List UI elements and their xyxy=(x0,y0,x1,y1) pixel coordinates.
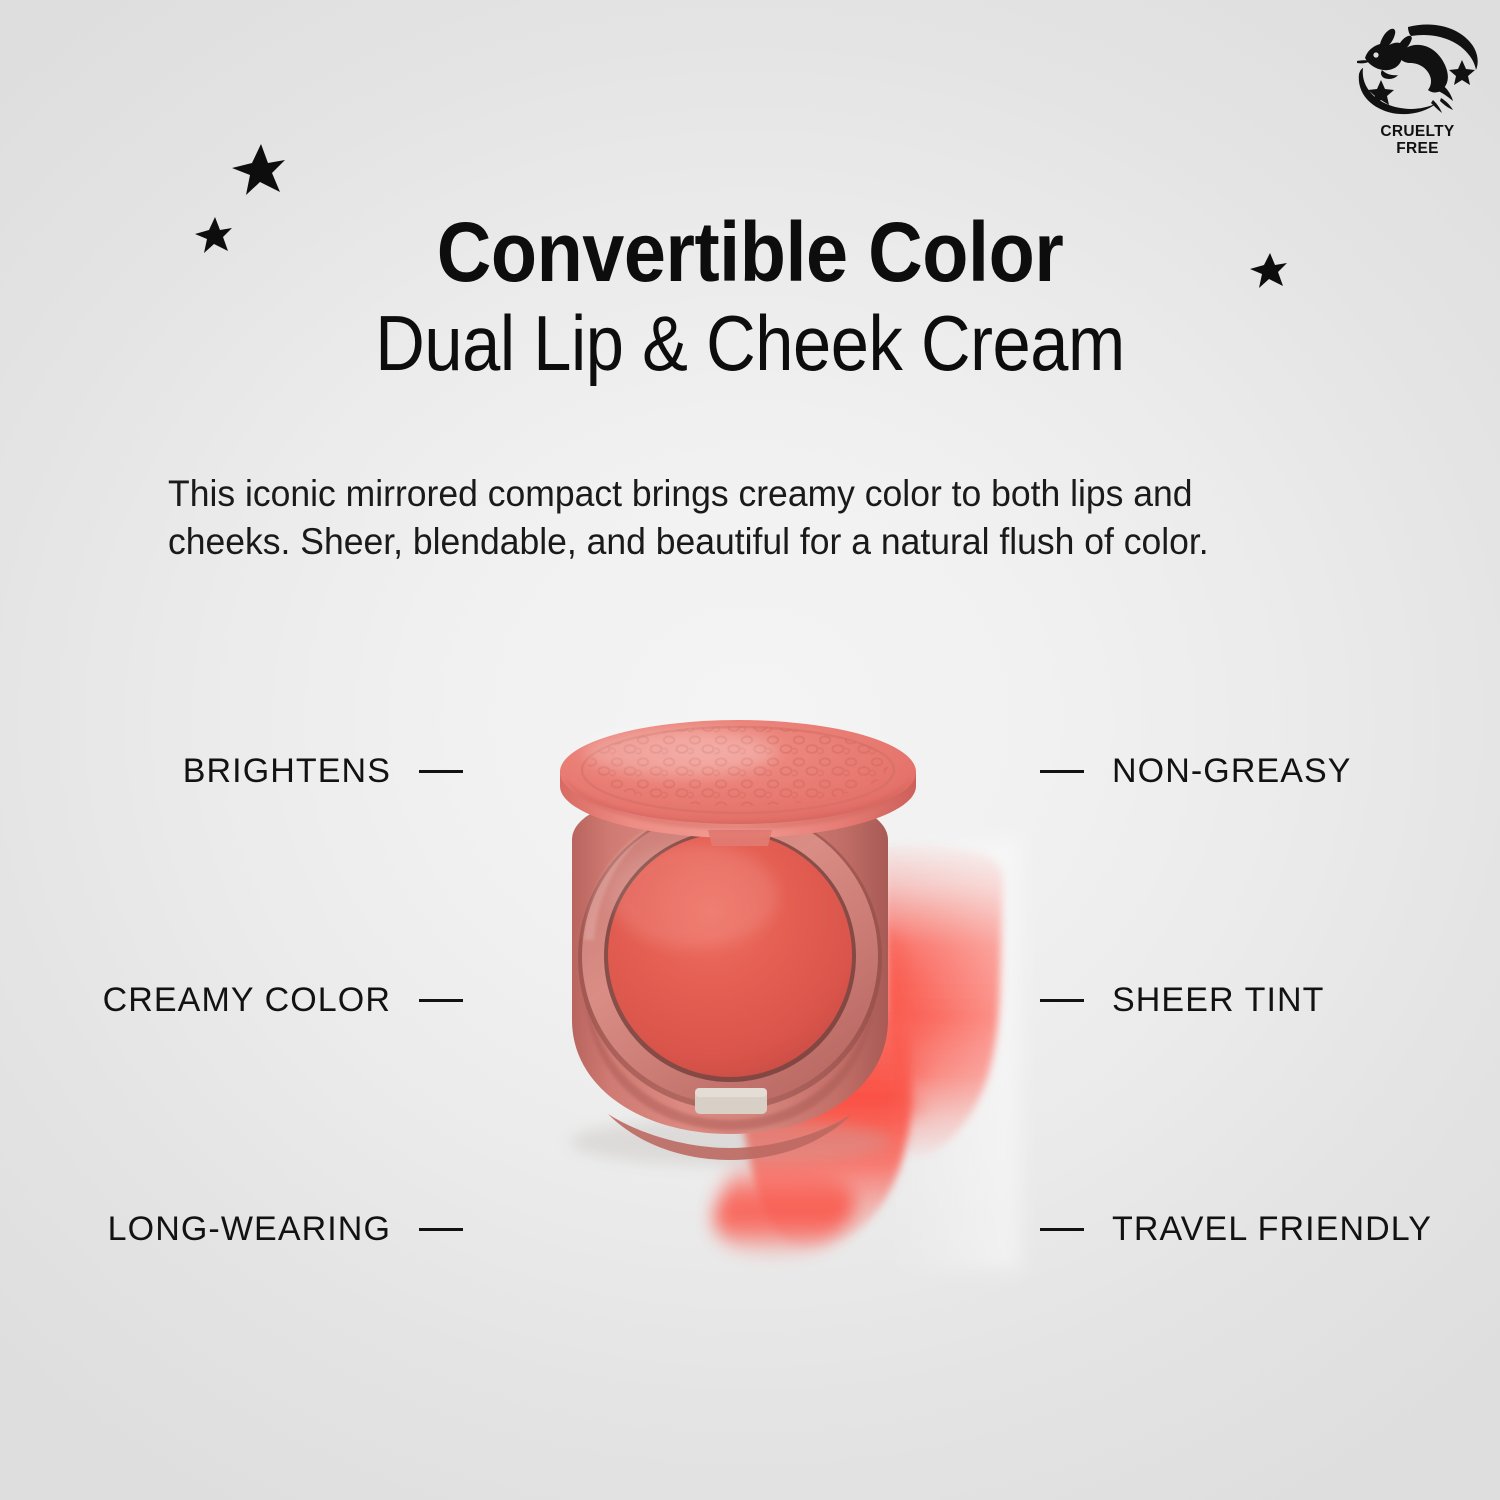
connector-dash xyxy=(1040,1228,1084,1231)
feature-sheer-tint: SHEER TINT xyxy=(1040,981,1325,1020)
cruelty-free-label: CRUELTY FREE xyxy=(1345,123,1490,158)
feature-label: SHEER TINT xyxy=(1112,981,1325,1020)
feature-travel-friendly: TRAVEL FRIENDLY xyxy=(1040,1210,1432,1249)
star-large-left-icon xyxy=(228,140,288,200)
feature-label: NON-GREASY xyxy=(1112,752,1352,791)
feature-creamy-color: CREAMY COLOR xyxy=(103,981,463,1020)
product-infographic: CRUELTY FREE Convertible Color Dual Lip … xyxy=(0,0,1500,1500)
feature-label: TRAVEL FRIENDLY xyxy=(1112,1210,1432,1249)
connector-dash xyxy=(419,999,463,1002)
connector-dash xyxy=(419,770,463,773)
page-title: Convertible Color xyxy=(75,210,1425,294)
feature-long-wearing: LONG-WEARING xyxy=(108,1210,463,1249)
connector-dash xyxy=(1040,999,1084,1002)
compact-case xyxy=(480,690,1040,1290)
product-description: This iconic mirrored compact brings crea… xyxy=(168,470,1296,566)
connector-dash xyxy=(1040,770,1084,773)
headline: Convertible Color Dual Lip & Cheek Cream xyxy=(0,210,1500,382)
feature-brightens: BRIGHTENS xyxy=(183,752,463,791)
connector-dash xyxy=(419,1228,463,1231)
feature-non-greasy: NON-GREASY xyxy=(1040,752,1352,791)
product-image xyxy=(480,690,1040,1290)
page-subtitle: Dual Lip & Cheek Cream xyxy=(90,304,1410,382)
leaping-bunny-icon xyxy=(1345,18,1490,121)
feature-label: BRIGHTENS xyxy=(183,752,391,791)
feature-label: CREAMY COLOR xyxy=(103,981,391,1020)
feature-label: LONG-WEARING xyxy=(108,1210,391,1249)
cruelty-free-badge: CRUELTY FREE xyxy=(1345,18,1490,168)
